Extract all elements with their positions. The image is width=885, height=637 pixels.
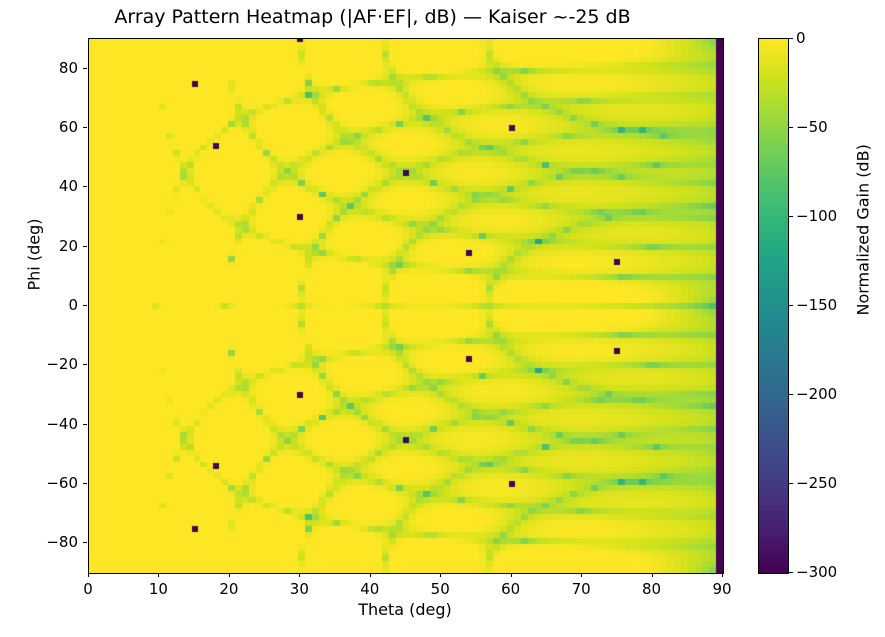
y-tick	[83, 127, 87, 128]
x-tick-label: 80	[642, 580, 661, 598]
x-tick	[511, 573, 512, 577]
x-tick-label: 40	[360, 580, 379, 598]
colorbar-tick-label: −250	[796, 474, 837, 492]
colorbar-tick	[789, 127, 793, 128]
colorbar-tick-label: 0	[796, 29, 806, 47]
x-tick	[158, 573, 159, 577]
colorbar[interactable]	[758, 38, 789, 574]
colorbar-tick	[789, 216, 793, 217]
x-tick-label: 90	[712, 580, 731, 598]
colorbar-tick-label: −50	[796, 118, 828, 136]
y-axis-label: Phi (deg)	[25, 175, 44, 335]
y-tick-label: −60	[26, 474, 78, 492]
colorbar-tick	[789, 572, 793, 573]
y-tick	[83, 483, 87, 484]
colorbar-tick-label: −150	[796, 296, 837, 314]
y-tick	[83, 364, 87, 365]
x-tick-label: 10	[149, 580, 168, 598]
colorbar-tick	[789, 38, 793, 39]
x-tick	[229, 573, 230, 577]
x-tick	[722, 573, 723, 577]
x-tick	[299, 573, 300, 577]
colorbar-tick	[789, 394, 793, 395]
y-tick-label: −20	[26, 355, 78, 373]
figure-canvas: Array Pattern Heatmap (|AF·EF|, dB) — Ka…	[0, 0, 885, 637]
y-tick	[83, 424, 87, 425]
x-tick	[581, 573, 582, 577]
y-tick	[83, 246, 87, 247]
y-tick	[83, 542, 87, 543]
x-tick	[440, 573, 441, 577]
heatmap-plot-area[interactable]	[88, 38, 724, 574]
y-tick-label: −80	[26, 533, 78, 551]
y-tick	[83, 305, 87, 306]
x-tick-label: 20	[219, 580, 238, 598]
x-tick	[652, 573, 653, 577]
y-tick	[83, 68, 87, 69]
colorbar-gradient	[759, 39, 788, 573]
colorbar-tick-label: −300	[796, 563, 837, 581]
page-title: Array Pattern Heatmap (|AF·EF|, dB) — Ka…	[0, 6, 745, 28]
colorbar-tick	[789, 305, 793, 306]
x-tick	[370, 573, 371, 577]
x-tick-label: 0	[83, 580, 93, 598]
colorbar-label: Normalized Gain (dB)	[854, 156, 873, 316]
x-tick	[88, 573, 89, 577]
y-tick-label: −40	[26, 415, 78, 433]
x-tick-label: 50	[431, 580, 450, 598]
heatmap-image	[89, 39, 723, 573]
x-tick-label: 60	[501, 580, 520, 598]
x-tick-label: 70	[572, 580, 591, 598]
colorbar-tick	[789, 483, 793, 484]
colorbar-tick-label: −100	[796, 207, 837, 225]
y-tick-label: 60	[26, 118, 78, 136]
x-tick-label: 30	[290, 580, 309, 598]
x-axis-label: Theta (deg)	[88, 600, 722, 619]
colorbar-tick-label: −200	[796, 385, 837, 403]
y-tick	[83, 186, 87, 187]
y-tick-label: 80	[26, 59, 78, 77]
